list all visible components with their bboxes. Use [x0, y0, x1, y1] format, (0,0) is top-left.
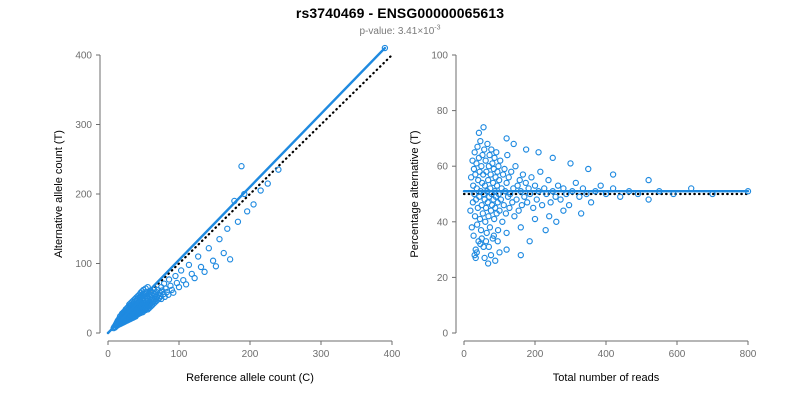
data-point [471, 233, 476, 238]
data-point [514, 197, 519, 202]
data-point [490, 161, 495, 166]
data-point [186, 262, 191, 267]
data-point [493, 258, 498, 263]
data-point [495, 169, 500, 174]
data-point [507, 205, 512, 210]
data-point [475, 144, 480, 149]
panel-right: 0204060801000200400600800Total number of… [400, 40, 800, 400]
data-point [522, 194, 527, 199]
data-point [192, 275, 197, 280]
data-point [577, 194, 582, 199]
data-point [546, 178, 551, 183]
data-point [509, 169, 514, 174]
x-tick-label: 0 [105, 349, 111, 360]
data-point [486, 244, 491, 249]
y-tick-label: 100 [75, 259, 92, 270]
data-point [488, 172, 493, 177]
data-point [468, 208, 473, 213]
data-point [476, 130, 481, 135]
data-point [166, 277, 171, 282]
data-point [489, 147, 494, 152]
data-point [598, 183, 603, 188]
data-point [540, 203, 545, 208]
data-point [202, 269, 207, 274]
data-point [497, 178, 502, 183]
axes-group: 0204060801000200400600800 [431, 51, 756, 361]
fit-line [108, 48, 385, 333]
data-points-group [468, 125, 751, 266]
data-point [504, 230, 509, 235]
data-point [611, 172, 616, 177]
data-point [486, 178, 491, 183]
data-point [221, 250, 226, 255]
data-point [239, 164, 244, 169]
data-point [485, 141, 490, 146]
x-tick-label: 400 [384, 349, 400, 360]
data-point [478, 139, 483, 144]
data-point [265, 181, 270, 186]
data-point [482, 255, 487, 260]
data-point [586, 166, 591, 171]
data-point [494, 150, 499, 155]
data-point [547, 214, 552, 219]
data-point [480, 152, 485, 157]
data-point [488, 253, 493, 258]
data-point [495, 239, 500, 244]
data-point [525, 200, 530, 205]
figure-root: rs3740469 - ENSG00000065613 p-value: 3.4… [0, 0, 800, 400]
x-tick-label: 200 [527, 349, 544, 360]
data-point [483, 205, 488, 210]
data-point [532, 183, 537, 188]
p-value-subtitle: p-value: 3.41×10-3 [0, 26, 800, 37]
data-point [520, 172, 525, 177]
left-scatter-plot: 01002003004000100200300400Reference alle… [0, 40, 400, 400]
x-axis-title: Total number of reads [553, 372, 660, 384]
data-point [228, 257, 233, 262]
data-point [523, 180, 528, 185]
y-tick-label: 0 [442, 329, 448, 340]
data-point [498, 158, 503, 163]
data-point [484, 230, 489, 235]
data-point [198, 264, 203, 269]
y-tick-label: 400 [75, 51, 92, 62]
data-point [561, 208, 566, 213]
data-point [210, 258, 215, 263]
y-tick-label: 200 [75, 190, 92, 201]
p-value-exponent: -3 [434, 25, 440, 32]
data-point [502, 166, 507, 171]
data-point [524, 147, 529, 152]
data-point [225, 226, 230, 231]
data-point [553, 194, 558, 199]
data-point [481, 125, 486, 130]
x-tick-label: 600 [669, 349, 686, 360]
y-axis-title: Alternative allele count (T) [53, 130, 65, 258]
data-point [206, 246, 211, 251]
x-tick-label: 800 [740, 349, 757, 360]
data-point [483, 219, 488, 224]
data-point [213, 264, 218, 269]
data-point [558, 197, 563, 202]
data-point [505, 152, 510, 157]
data-point [501, 203, 506, 208]
data-point [531, 205, 536, 210]
data-point [472, 214, 477, 219]
data-point [179, 268, 184, 273]
data-point [568, 161, 573, 166]
data-point [566, 203, 571, 208]
panel-left: 01002003004000100200300400Reference alle… [0, 40, 400, 400]
data-point [646, 178, 651, 183]
y-tick-label: 60 [437, 162, 449, 173]
y-tick-label: 300 [75, 120, 92, 131]
y-axis-title: Percentage alternative (T) [409, 130, 421, 257]
data-point [543, 228, 548, 233]
data-point [474, 161, 479, 166]
y-tick-label: 0 [86, 329, 92, 340]
data-point [532, 216, 537, 221]
data-point [573, 180, 578, 185]
data-point [486, 261, 491, 266]
data-point [184, 282, 189, 287]
data-point [245, 209, 250, 214]
y-tick-label: 100 [431, 51, 448, 62]
data-point [536, 150, 541, 155]
data-point [496, 164, 501, 169]
data-point [527, 239, 532, 244]
data-point [534, 197, 539, 202]
data-point [173, 273, 178, 278]
data-point [217, 237, 222, 242]
data-point [538, 169, 543, 174]
data-point [503, 211, 508, 216]
data-point [506, 175, 511, 180]
data-point [482, 147, 487, 152]
data-point [500, 172, 505, 177]
page-title: rs3740469 - ENSG00000065613 [0, 5, 800, 21]
y-tick-label: 40 [437, 217, 449, 228]
data-point [529, 175, 534, 180]
data-point [477, 169, 482, 174]
data-point [476, 155, 481, 160]
data-point [469, 225, 474, 230]
data-point [504, 247, 509, 252]
data-point [483, 239, 488, 244]
data-point [487, 225, 492, 230]
data-point [486, 164, 491, 169]
data-point [513, 164, 518, 169]
p-value-base: 10 [423, 26, 434, 37]
data-point [504, 180, 509, 185]
data-point [511, 141, 516, 146]
x-tick-label: 0 [461, 349, 467, 360]
data-point [251, 202, 256, 207]
data-point [618, 194, 623, 199]
data-point [646, 197, 651, 202]
data-point [579, 211, 584, 216]
data-point [477, 216, 482, 221]
data-point [472, 150, 477, 155]
data-point [478, 228, 483, 233]
p-value-prefix: p-value: 3.41 [359, 26, 417, 37]
data-point [495, 228, 500, 233]
data-point [516, 208, 521, 213]
data-point [475, 222, 480, 227]
data-point [486, 214, 491, 219]
data-point [196, 254, 201, 259]
x-tick-label: 100 [171, 349, 188, 360]
right-scatter-plot: 0204060801000200400600800Total number of… [400, 40, 800, 400]
data-point [517, 178, 522, 183]
data-point [500, 219, 505, 224]
data-point [504, 136, 509, 141]
data-point [487, 152, 492, 157]
y-tick-label: 20 [437, 273, 449, 284]
x-tick-label: 200 [242, 349, 259, 360]
data-point [550, 155, 555, 160]
data-point [518, 253, 523, 258]
data-point [483, 158, 488, 163]
y-tick-label: 80 [437, 106, 449, 117]
data-point [497, 250, 502, 255]
data-point [480, 211, 485, 216]
data-point [471, 183, 476, 188]
data-point [492, 155, 497, 160]
data-point [479, 164, 484, 169]
data-point [493, 175, 498, 180]
data-point [555, 183, 560, 188]
data-point [515, 183, 520, 188]
data-point [554, 219, 559, 224]
data-point [548, 200, 553, 205]
data-point [276, 167, 281, 172]
data-point [235, 219, 240, 224]
x-tick-label: 400 [598, 349, 615, 360]
fit-line-group [108, 48, 385, 333]
data-point [588, 200, 593, 205]
data-point [518, 225, 523, 230]
x-axis-title: Reference allele count (C) [186, 372, 314, 384]
data-point [471, 166, 476, 171]
data-point [492, 216, 497, 221]
data-point [519, 203, 524, 208]
x-tick-label: 300 [313, 349, 330, 360]
data-point [512, 214, 517, 219]
data-point [258, 188, 263, 193]
